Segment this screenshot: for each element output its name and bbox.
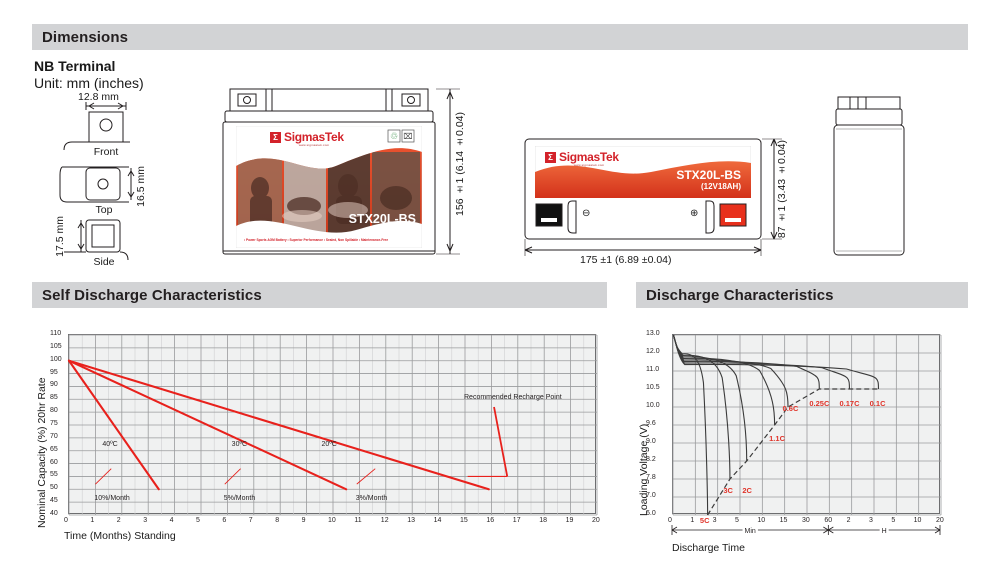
dimensions-title: Dimensions — [42, 29, 128, 46]
terminal-width-label: 12.8 mm — [78, 91, 119, 103]
sd-x-tick: 0 — [64, 517, 68, 524]
brand-name-side: SigmasTek — [559, 150, 619, 164]
sd-y-tick: 45 — [50, 497, 58, 504]
dc-span-min-label: Min — [745, 528, 756, 535]
dc-y-tick: 9.0 — [646, 438, 656, 445]
sd-x-tick: 15 — [460, 517, 468, 524]
discharge-title: Discharge Characteristics — [646, 287, 834, 304]
brand-logo-front: Σ SigmasTek — [270, 130, 344, 144]
sd-x-tick: 7 — [249, 517, 253, 524]
dc-y-tick: 9.6 — [646, 420, 656, 427]
terminal-height-label: 16.5 mm — [135, 166, 147, 207]
battery-end-outline — [824, 96, 918, 258]
battery-label-side: Σ SigmasTek www.sigmastek.com STX20L-BS … — [535, 146, 751, 198]
svg-text:♲: ♲ — [390, 132, 398, 142]
sd-y-tick: 85 — [50, 394, 58, 401]
battery-tagline: • Power Sports AGM Battery • Superior Pe… — [244, 238, 388, 242]
sd-y-tick: 75 — [50, 420, 58, 427]
sd-y-tick: 90 — [50, 381, 58, 388]
discharge-chart: Loading Voltage (V) Discharge Time 01351… — [636, 326, 976, 566]
sd-x-tick: 12 — [381, 517, 389, 524]
sd-x-tick: 6 — [222, 517, 226, 524]
dc-rate-label: 1.1C — [769, 434, 785, 443]
terminal-drawings: 12.8 mm Front 16.5 mm Top 17.5 mm Side — [34, 92, 204, 272]
dc-plot-area — [672, 334, 940, 514]
sd-plot-area — [68, 334, 596, 514]
battery-width-dimension: 87 ±1 (3.43 ±0.04) — [776, 140, 788, 238]
sd-y-tick: 50 — [50, 484, 58, 491]
sd-y-tick: 65 — [50, 446, 58, 453]
battery-label-front: ♲ ⌧ Σ SigmasTek www.sigmastek.com STX20L… — [236, 126, 422, 248]
sd-y-tick: 100 — [50, 356, 62, 363]
sd-annotation: 30ºC — [232, 441, 247, 448]
sd-x-tick: 16 — [486, 517, 494, 524]
sd-x-tick: 19 — [566, 517, 574, 524]
sd-x-tick: 9 — [302, 517, 306, 524]
nb-terminal-heading: NB Terminal — [34, 58, 115, 74]
sd-x-tick: 17 — [513, 517, 521, 524]
sigmastek-mark-icon-side: Σ — [545, 152, 556, 163]
battery-model-side: STX20L-BS — [676, 168, 741, 182]
sd-y-tick: 80 — [50, 407, 58, 414]
sd-x-tick: 3 — [143, 517, 147, 524]
battery-model-front: STX20L-BS — [349, 212, 416, 226]
dc-y-tick: 7.0 — [646, 492, 656, 499]
dc-rate-label: 3C — [723, 486, 733, 495]
discharge-section-header: Discharge Characteristics — [636, 282, 968, 308]
brand-name: SigmasTek — [284, 130, 344, 144]
sd-x-tick: 14 — [434, 517, 442, 524]
dc-rate-label: 2C — [742, 486, 752, 495]
sd-curves — [69, 335, 597, 515]
battery-capacity-front: (12V18AH) — [373, 225, 416, 235]
sd-x-tick: 1 — [90, 517, 94, 524]
dc-y-tick: 10.5 — [646, 384, 660, 391]
sd-y-tick: 105 — [50, 343, 62, 350]
sd-y-tick: 40 — [50, 510, 58, 517]
dc-y-tick: 8.2 — [646, 456, 656, 463]
sd-y-tick: 55 — [50, 471, 58, 478]
sd-x-tick: 13 — [407, 517, 415, 524]
terminal-view-side-label: Side — [76, 256, 132, 268]
dc-y-tick: 13.0 — [646, 330, 660, 337]
sd-y-tick: 60 — [50, 459, 58, 466]
sd-y-axis-title: Nominal Capacity (%) 20hr Rate — [36, 338, 48, 528]
sd-x-tick: 2 — [117, 517, 121, 524]
sd-x-tick: 4 — [170, 517, 174, 524]
svg-text:⌧: ⌧ — [403, 132, 412, 141]
battery-height-dimension: 156 ±1 (6.14 ±0.04) — [454, 112, 466, 216]
dimensions-section-header: Dimensions — [32, 24, 968, 50]
dc-y-tick: 11.0 — [646, 366, 659, 373]
sd-x-axis-title: Time (Months) Standing — [64, 530, 176, 542]
sd-annotation: 5%/Month — [224, 495, 256, 502]
battery-capacity-side: (12V18AH) — [701, 182, 741, 191]
sd-annotation: 40ºC — [102, 441, 117, 448]
terminal-positive-symbol: ⊕ — [690, 208, 698, 219]
dc-y-tick: 12.0 — [646, 348, 660, 355]
dc-rate-label: 0.17C — [840, 399, 860, 408]
sd-y-tick: 110 — [50, 330, 61, 337]
sd-x-tick: 8 — [275, 517, 279, 524]
battery-front-view: ♲ ⌧ Σ SigmasTek www.sigmastek.com STX20L… — [222, 88, 444, 258]
sd-annotation: 10%/Month — [94, 495, 129, 502]
terminal-negative-symbol: ⊖ — [582, 208, 590, 219]
dc-y-tick: 10.0 — [646, 402, 660, 409]
battery-side-view: Σ SigmasTek www.sigmastek.com STX20L-BS … — [524, 138, 774, 238]
self-discharge-section-header: Self Discharge Characteristics — [32, 282, 607, 308]
sd-annotation: Recommended Recharge Point — [464, 394, 562, 401]
brand-url-front: www.sigmastek.com — [284, 143, 344, 147]
dc-rate-label: 0.1C — [870, 399, 886, 408]
sigmastek-mark-icon: Σ — [270, 132, 281, 143]
unit-label: Unit: mm (inches) — [34, 75, 144, 91]
sd-annotation: 3%/Month — [356, 495, 388, 502]
battery-length-dimension: 175 ±1 (6.89 ±0.04) — [580, 254, 672, 266]
dc-y-tick: 7.8 — [646, 474, 656, 481]
terminal-view-top-label: Top — [76, 204, 132, 216]
brand-logo-side: Σ SigmasTek — [545, 150, 619, 164]
sd-x-tick: 20 — [592, 517, 600, 524]
dc-rate-label: 0.6C — [783, 404, 799, 413]
dc-axis-spans: MinH — [636, 516, 976, 546]
sd-annotation: 20ºC — [321, 441, 336, 448]
sd-x-tick: 5 — [196, 517, 200, 524]
battery-end-view — [824, 96, 918, 256]
self-discharge-chart: Nominal Capacity (%) 20hr Rate Time (Mon… — [32, 330, 612, 560]
sd-x-tick: 18 — [539, 517, 547, 524]
sd-x-tick: 10 — [328, 517, 336, 524]
brand-url-side: www.sigmastek.com — [559, 163, 619, 167]
terminal-view-front-label: Front — [78, 146, 134, 158]
dc-span-hour-label: H — [882, 528, 887, 535]
sd-y-tick: 95 — [50, 369, 58, 376]
sd-y-tick: 70 — [50, 433, 58, 440]
dc-curves — [673, 335, 941, 515]
sd-x-tick: 11 — [354, 517, 361, 524]
dc-rate-label: 0.25C — [809, 399, 829, 408]
terminal-depth-label: 17.5 mm — [54, 216, 66, 257]
self-discharge-title: Self Discharge Characteristics — [42, 287, 262, 304]
